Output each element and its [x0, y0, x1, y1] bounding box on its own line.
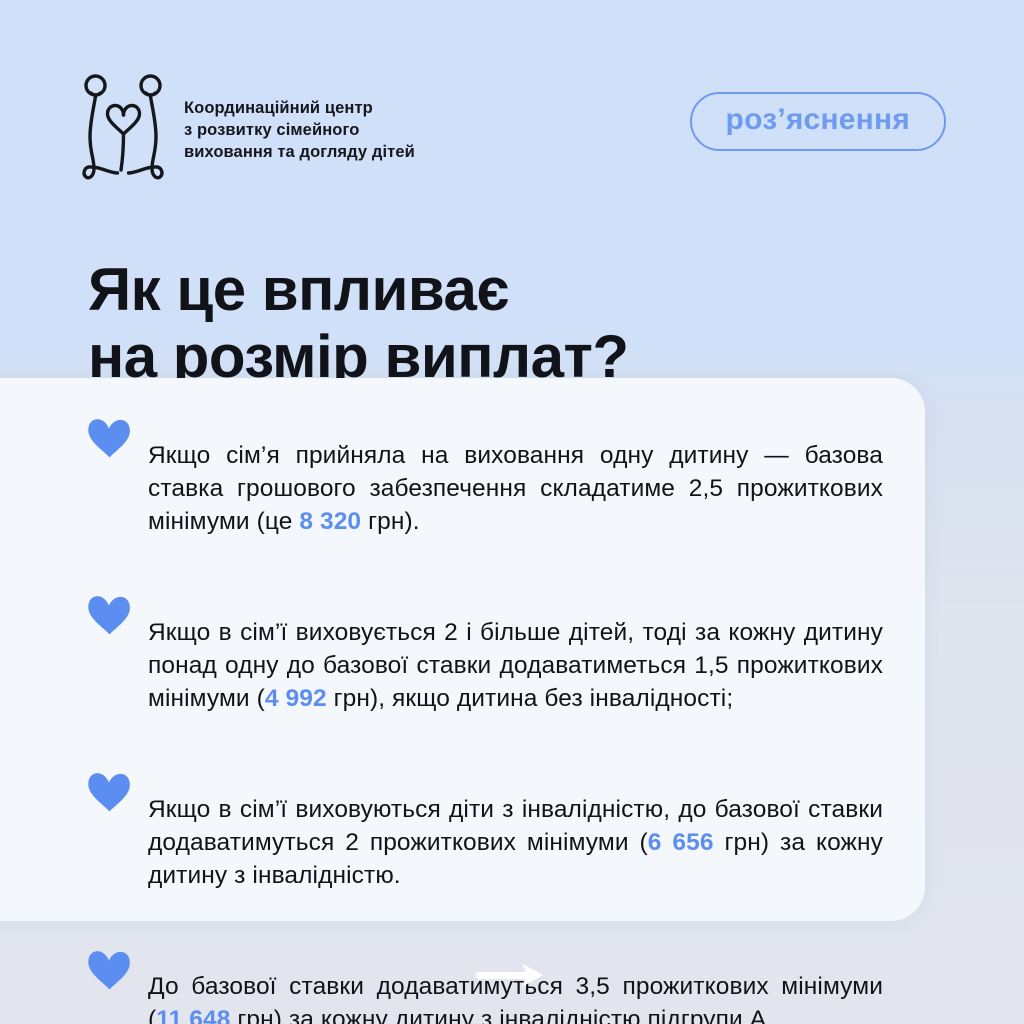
header: Координаційний центр з розвитку сімейног…	[80, 74, 946, 184]
bullet-item: Якщо в сім’ї виховуються діти з інвалідн…	[88, 768, 883, 916]
bullet-list: Якщо сім’я прийняла на виховання одну ди…	[88, 414, 883, 901]
footer	[0, 958, 1024, 992]
highlighted-amount: 8 320	[299, 508, 361, 535]
bullet-text-segment: грн).	[361, 508, 419, 535]
bullet-text-segment: Якщо сім’я прийняла на виховання одну ди…	[148, 442, 883, 535]
heart-icon	[86, 771, 132, 813]
bullet-item: Якщо сім’я прийняла на виховання одну ди…	[88, 414, 883, 562]
arrow-right-icon[interactable]	[475, 958, 549, 992]
heart-icon	[86, 594, 132, 636]
bullet-text: Якщо в сім’ї виховується 2 і більше діте…	[148, 616, 883, 715]
bullet-text-segment: грн) за кожну дитину з інвалідністю підг…	[230, 1006, 773, 1024]
bullet-item: Якщо в сім’ї виховується 2 і більше діте…	[88, 591, 883, 739]
infographic-canvas: Координаційний центр з розвитку сімейног…	[0, 0, 1024, 1024]
bullet-text: Якщо сім’я прийняла на виховання одну ди…	[148, 439, 883, 538]
highlighted-amount: 4 992	[265, 685, 327, 712]
heart-icon	[86, 417, 132, 459]
bullet-text-segment: грн), якщо дитина без інвалідності;	[327, 685, 734, 712]
highlighted-amount: 6 656	[648, 829, 714, 856]
brand-name: Координаційний центр з розвитку сімейног…	[184, 98, 415, 164]
clarification-badge[interactable]: роз’яснення	[690, 92, 946, 151]
brand-block: Координаційний центр з розвитку сімейног…	[80, 74, 415, 182]
highlighted-amount: 11 648	[156, 1006, 230, 1024]
content-card: Якщо сім’я прийняла на виховання одну ди…	[0, 378, 925, 921]
bullet-text: Якщо в сім’ї виховуються діти з інвалідн…	[148, 793, 883, 892]
page-title: Як це впливає на розмір виплат?	[88, 256, 629, 390]
two-figures-heart-logo-icon	[80, 74, 168, 182]
